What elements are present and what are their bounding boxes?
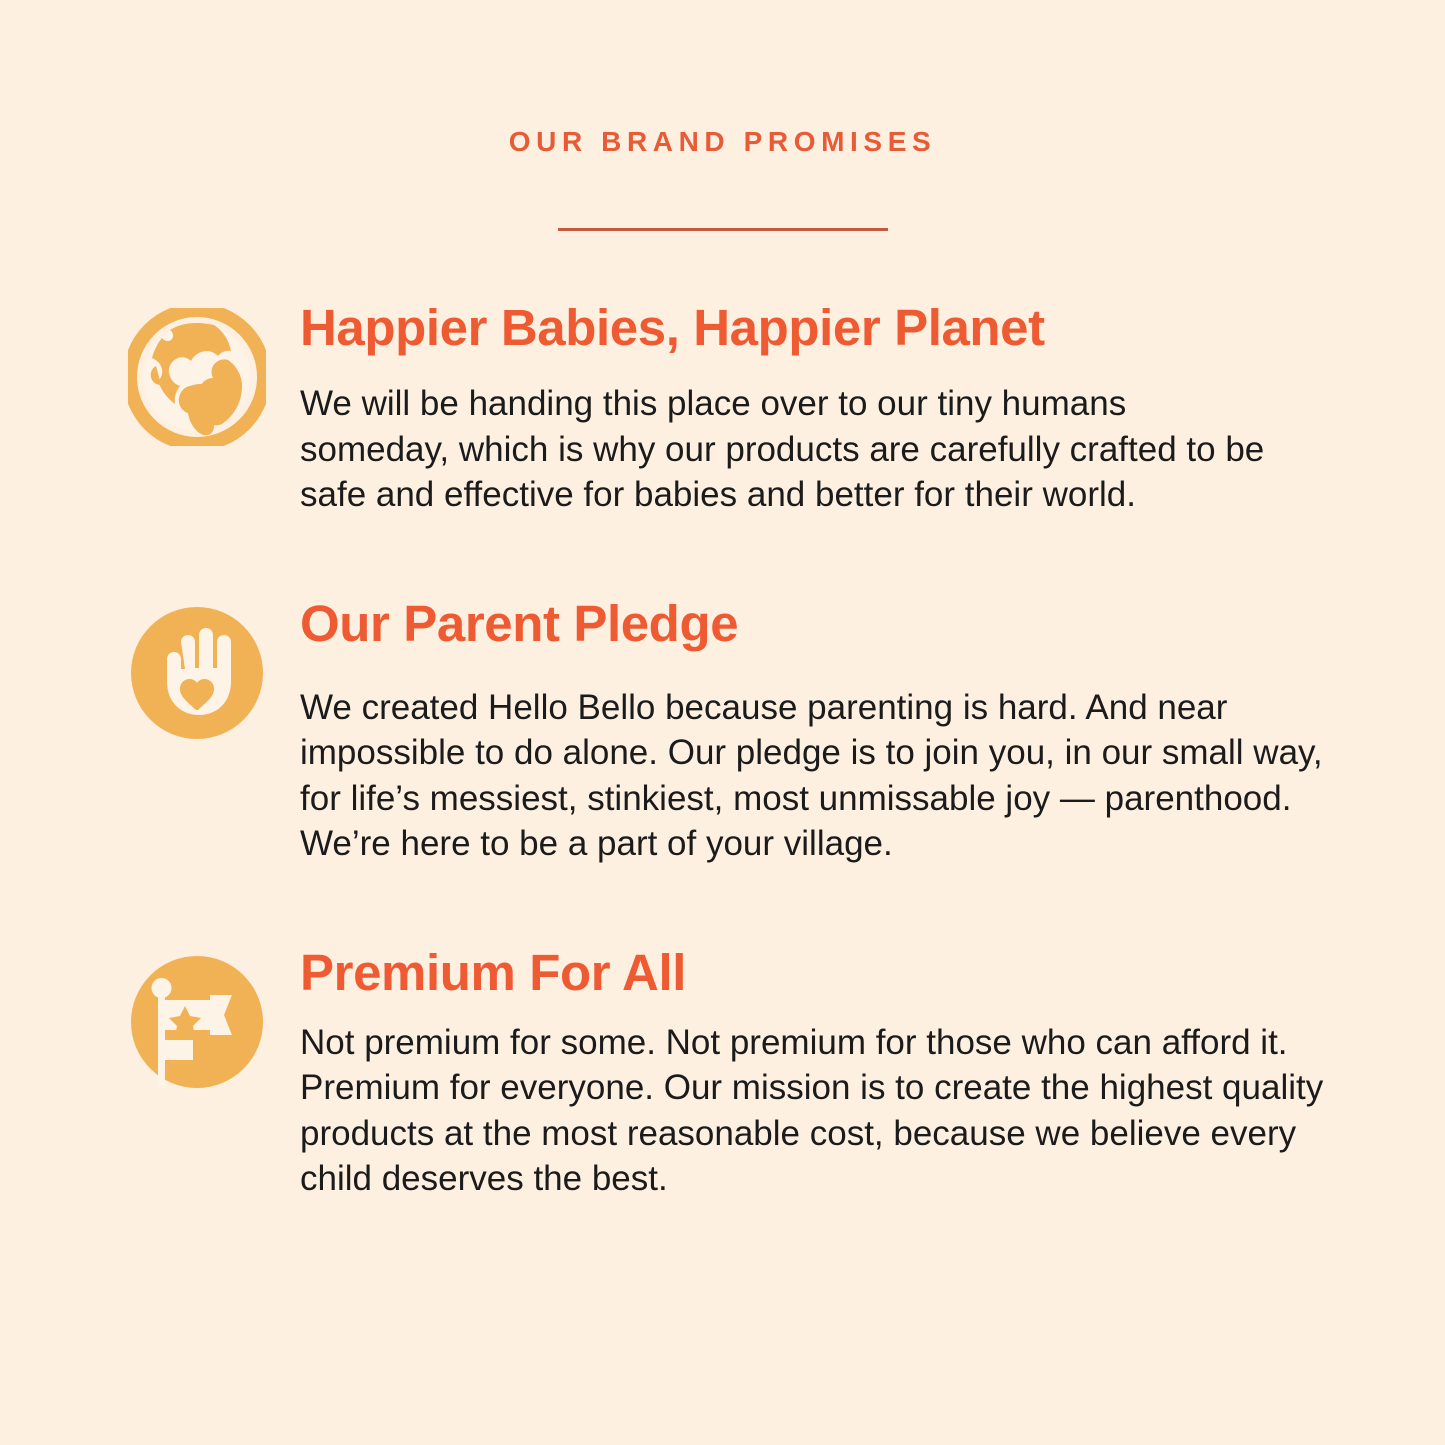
globe-icon [128,308,266,446]
promise-body: Our Parent Pledge We created Hello Bello… [266,596,1345,867]
promise-text: Not premium for some. Not premium for th… [300,1020,1330,1202]
promise-body: Happier Babies, Happier Planet We will b… [266,300,1345,518]
promise-title: Premium For All [300,945,1345,1000]
promise-title: Our Parent Pledge [300,596,1345,651]
promise-item-premium-for-all: Premium For All Not premium for some. No… [0,945,1445,1202]
promise-item-parent-pledge: Our Parent Pledge We created Hello Bello… [0,596,1445,867]
flag-star-icon [128,953,266,1091]
hand-heart-icon [128,604,266,742]
promise-text: We created Hello Bello because parenting… [300,685,1330,867]
promise-text: We will be handing this place over to ou… [300,381,1275,518]
page-eyebrow-title: OUR BRAND PROMISES [0,128,1445,156]
promise-list: Happier Babies, Happier Planet We will b… [0,300,1445,1202]
header-divider [558,228,888,231]
promise-body: Premium For All Not premium for some. No… [266,945,1345,1202]
promise-item-happier-planet: Happier Babies, Happier Planet We will b… [0,300,1445,518]
brand-promises-page: OUR BRAND PROMISES Happier Babies, [0,0,1445,1445]
promise-title: Happier Babies, Happier Planet [300,300,1345,355]
